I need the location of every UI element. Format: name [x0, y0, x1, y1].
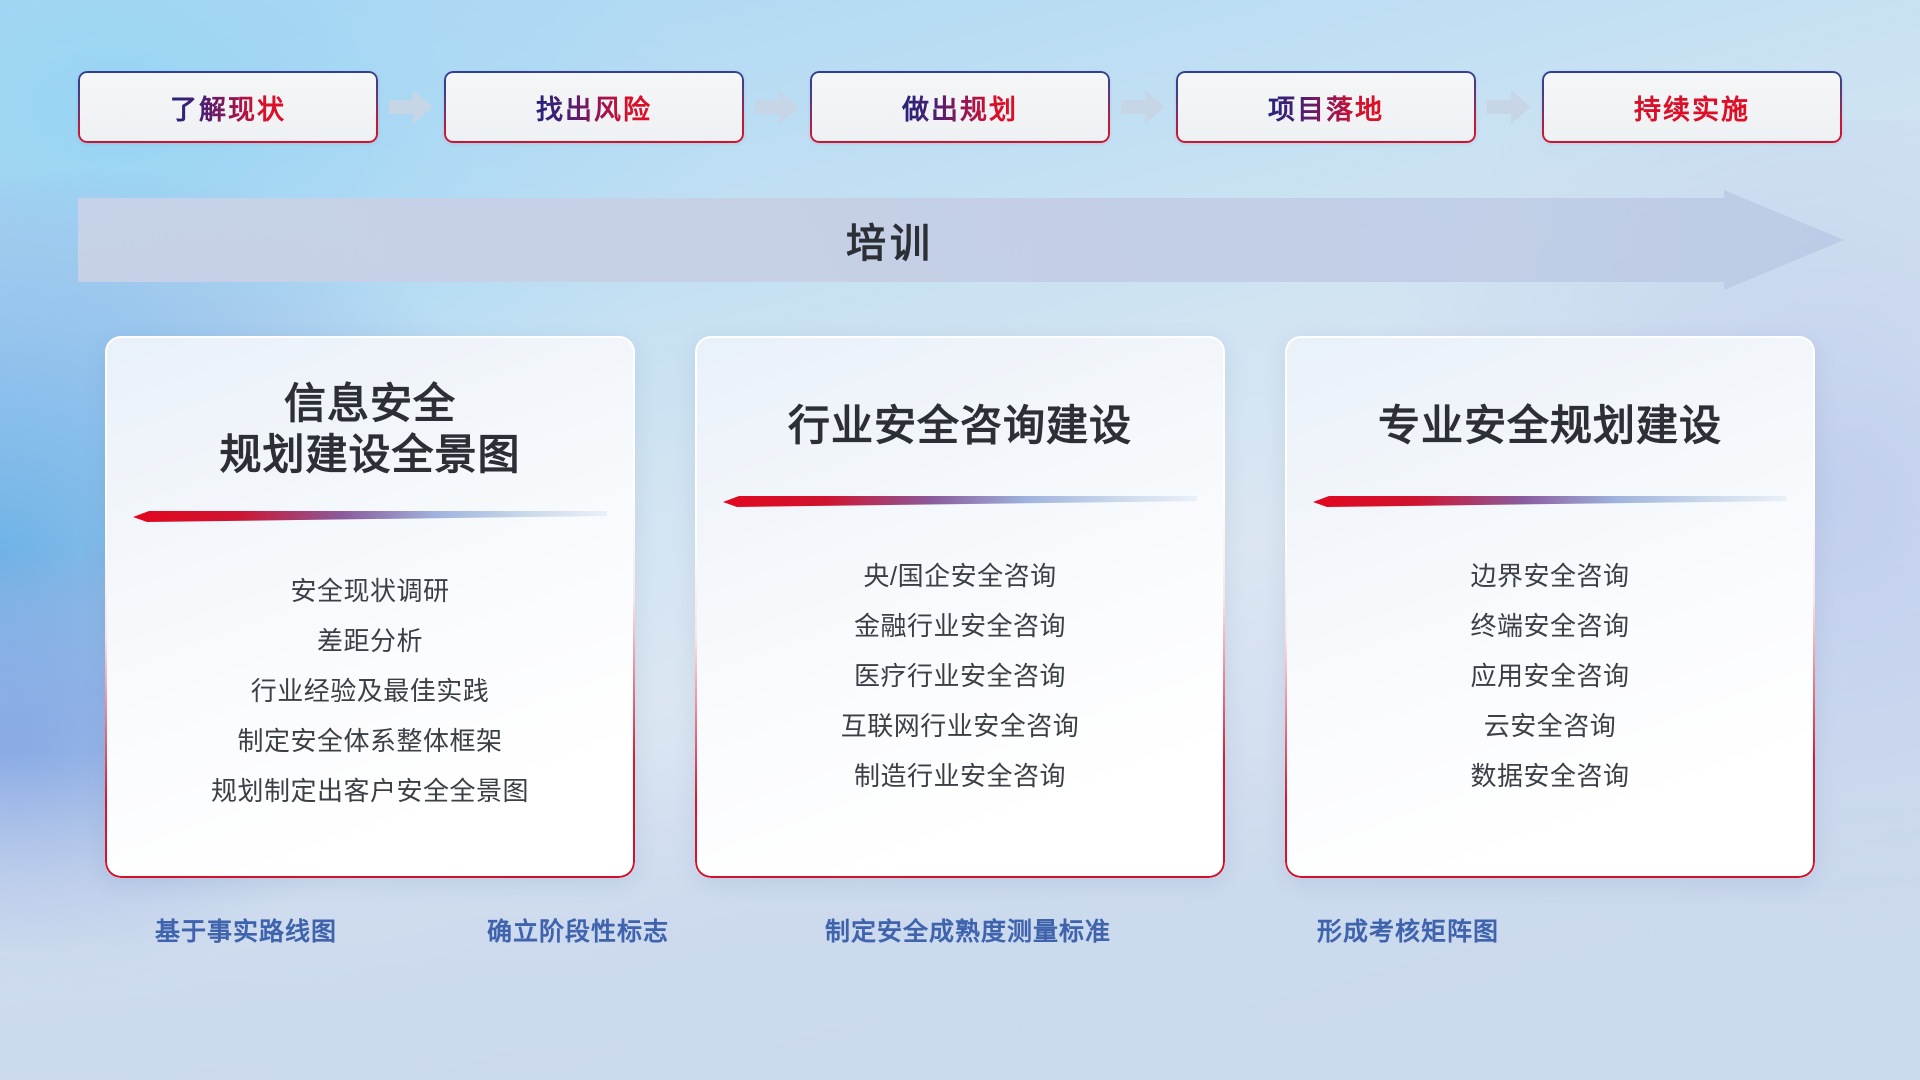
card-1-item: 行业经验及最佳实践: [133, 666, 607, 716]
step-pill-2-label: 找出风险: [536, 88, 652, 127]
card-1-title: 信息安全 规划建设全景图: [219, 378, 520, 480]
card-row: 信息安全 规划建设全景图: [0, 336, 1920, 878]
step-pill-1-wrap: 了解现状: [78, 71, 378, 143]
step-arrow-icon-1: [378, 70, 444, 144]
card-2-item: 金融行业安全咨询: [723, 601, 1197, 651]
card-3-item: 数据安全咨询: [1313, 751, 1787, 801]
step-pill-2[interactable]: 找出风险: [444, 71, 744, 143]
training-band-label: 培训: [846, 211, 934, 269]
step-pill-5[interactable]: 持续实施: [1542, 71, 1842, 143]
card-3-divider: [1313, 496, 1787, 507]
card-industry-security-consulting[interactable]: 行业安全咨询建设: [695, 336, 1225, 878]
card-information-security-panorama[interactable]: 信息安全 规划建设全景图: [105, 336, 635, 878]
card-3-title: 专业安全规划建设: [1378, 400, 1722, 451]
card-3-item: 边界安全咨询: [1313, 551, 1787, 601]
card-professional-security-planning[interactable]: 专业安全规划建设: [1285, 336, 1815, 878]
card-3-item-list: 边界安全咨询 终端安全咨询 应用安全咨询 云安全咨询 数据安全咨询: [1313, 551, 1787, 801]
card-2-item-list: 央/国企安全咨询 金融行业安全咨询 医疗行业安全咨询 互联网行业安全咨询 制造行…: [723, 551, 1197, 801]
step-arrow-icon-3: [1110, 70, 1176, 144]
card-1-item: 安全现状调研: [133, 566, 607, 616]
caption-maturity-scale: 制定安全成熟度测量标准: [825, 912, 1111, 948]
training-band-label-wrap: 培训: [0, 190, 1780, 290]
card-2-divider: [723, 496, 1197, 507]
step-pill-3-label: 做出规划: [902, 88, 1018, 127]
step-arrow-icon-2: [744, 70, 810, 144]
card-2-item: 央/国企安全咨询: [723, 551, 1197, 601]
caption-row: 基于事实路线图 确立阶段性标志 制定安全成熟度测量标准 形成考核矩阵图: [0, 912, 1920, 956]
card-1-item: 差距分析: [133, 616, 607, 666]
slide-canvas: 了解现状 找出风险 做出规划: [0, 0, 1920, 1080]
step-pill-2-wrap: 找出风险: [444, 71, 744, 143]
step-pill-3-wrap: 做出规划: [810, 71, 1110, 143]
card-2-item: 医疗行业安全咨询: [723, 651, 1197, 701]
card-1-item: 规划制定出客户安全全景图: [133, 766, 607, 816]
process-step-row: 了解现状 找出风险 做出规划: [0, 70, 1920, 144]
card-1-divider: [133, 511, 607, 522]
card-3-item: 应用安全咨询: [1313, 651, 1787, 701]
step-pill-4[interactable]: 项目落地: [1176, 71, 1476, 143]
step-pill-4-label: 项目落地: [1268, 88, 1384, 127]
step-pill-5-label: 持续实施: [1634, 88, 1750, 127]
step-pill-1-label: 了解现状: [170, 88, 286, 127]
card-3-item: 云安全咨询: [1313, 701, 1787, 751]
card-2-item: 互联网行业安全咨询: [723, 701, 1197, 751]
step-pill-5-wrap: 持续实施: [1542, 71, 1842, 143]
step-pill-1[interactable]: 了解现状: [78, 71, 378, 143]
caption-roadmap: 基于事实路线图: [155, 912, 337, 948]
card-2-title: 行业安全咨询建设: [788, 400, 1132, 451]
card-3-item: 终端安全咨询: [1313, 601, 1787, 651]
step-pill-3[interactable]: 做出规划: [810, 71, 1110, 143]
card-1-item: 制定安全体系整体框架: [133, 716, 607, 766]
step-arrow-icon-4: [1476, 70, 1542, 144]
step-pill-4-wrap: 项目落地: [1176, 71, 1476, 143]
caption-milestones: 确立阶段性标志: [487, 912, 669, 948]
caption-kpi-matrix: 形成考核矩阵图: [1317, 912, 1499, 948]
card-1-item-list: 安全现状调研 差距分析 行业经验及最佳实践 制定安全体系整体框架 规划制定出客户…: [133, 566, 607, 816]
card-2-item: 制造行业安全咨询: [723, 751, 1197, 801]
